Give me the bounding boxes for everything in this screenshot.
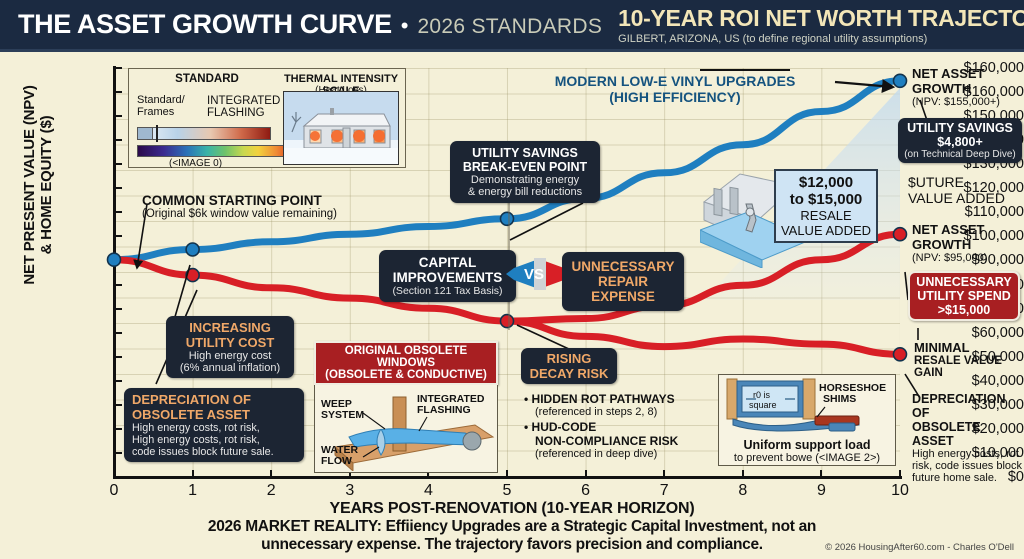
capital-l3: (Section 121 Tax Basis) [385,285,510,297]
support-l1: Uniform support load [719,438,895,452]
y-tick-mark [114,380,122,382]
breakeven-l2: BREAK-EVEN POINT [457,160,593,174]
svg-text:SHIMS: SHIMS [823,393,856,405]
svg-text:square: square [749,400,777,410]
callout-resale-value: $12,000 to $15,000 RESALE VALUE ADDED [774,169,878,243]
page-title: THE ASSET GROWTH CURVE [18,9,392,40]
x-tick-label: 10 [885,482,915,500]
y-tick-mark [114,476,122,478]
header-standards: 2026 STANDARDS [417,15,602,39]
legend-standard-right: INTEGRATED FLASHING [207,95,285,119]
resale-l2: to $15,000 [778,191,874,208]
breakeven-l4: & energy bill reductions [457,186,593,198]
list-decay-risks: • HIDDEN ROT PATHWAYS (referenced in ste… [524,392,714,460]
resale-l1: $12,000 [778,174,874,191]
x-tick-label: 3 [335,482,365,500]
dep-left-l3: High energy costs, rot risk, [132,422,296,434]
header-roi-subtitle: GILBERT, ARIZONA, US (to define regional… [618,33,1024,45]
house-thermal-image [283,91,399,165]
nam-l3: (NPV: $95,000) [912,252,1024,264]
mr-l1: MINIMAL [914,340,1024,355]
breakeven-l3: Demonstrating energy [457,174,593,186]
callout-net-asset-top: NET ASSET GROWTH (NPV: $155,000+) [912,66,1024,108]
decay-b2s: (referenced in deep dive) [535,448,714,460]
fv-l1: $UTURE [908,174,1024,190]
dep-left-l1: DEPRECIATION OF [132,392,296,407]
mr-l2: RESALE VALUE GAIN [914,355,1024,379]
decay-l1: RISING [527,351,611,366]
support-load-caption: Uniform support load to prevent bowe (<I… [719,438,895,464]
y-tick-mark [114,259,122,261]
common-start-sub: (Original $6k window value remaining) [142,208,374,220]
obsolete-windows-header: ORIGINAL OBSOLETE WINDOWS (OBSOLETE & CO… [314,341,498,385]
bullet-icon: • [524,392,528,406]
common-start-title: COMMON STARTING POINT [142,193,374,208]
x-tick-label: 2 [256,482,286,500]
decay-b2a: HUD-CODE [532,420,597,434]
y-tick-mark [114,91,122,93]
modern-lowe-line1: MODERN LOW-E VINYL UPGRADES [520,73,830,89]
modern-lowe-line2: (HIGH EFFICIENCY) [520,89,830,105]
x-tick-label: 6 [571,482,601,500]
decay-b2b: NON-COMPLIANCE RISK [535,434,714,448]
y-tick-mark [114,115,122,117]
incr-util-l2: UTILITY COST [172,335,288,350]
decay-bullet-1: • HIDDEN ROT PATHWAYS [524,392,714,406]
y-tick-mark [114,404,122,406]
x-tick-label: 7 [649,482,679,500]
y-tick-label: $110,000 [916,204,1024,220]
callout-rising-decay: RISING DECAY RISK [521,348,617,384]
x-tick-mark [742,470,744,479]
y-tick-mark [114,211,122,213]
legend-panel: STANDARD Standard/ Frames INTEGRATED FLA… [128,68,406,168]
dr-l1: DEPRECIATION OF [912,392,1024,420]
decay-b1s: (referenced in steps 2, 8) [535,406,714,418]
x-tick-mark [192,470,194,479]
dr-l2: OBSOLETE ASSET [912,420,1024,448]
callout-depreciation-right: DEPRECIATION OF OBSOLETE ASSET High ener… [912,392,1024,484]
svg-text:SYSTEM: SYSTEM [321,409,364,421]
dr-l3: High energy costs, rot [912,448,1024,460]
y-tick-mark [114,235,122,237]
x-tick-label: 1 [178,482,208,500]
y-tick-mark [114,139,122,141]
x-axis-title: YEARS POST-RENOVATION (10-YEAR HORIZON) [0,500,1024,518]
y-tick-mark [114,428,122,430]
footer-line-1: 2026 MARKET REALITY: Effiiency Upgrades … [0,518,1024,536]
nat-l1: NET ASSET [912,66,1024,81]
support-l2: to prevent bowe (<IMAGE 2>) [719,452,895,464]
x-tick-label: 4 [413,482,443,500]
uspend-l3: >$15,000 [913,303,1015,317]
callout-unnecessary-spend: UNNECESSARY UTILITY SPEND >$15,000 [908,271,1020,321]
dep-left-l5: code issues block future sale. [132,446,296,458]
header-roi-title: 10-YEAR ROI NET WORTH TRAJECTORY [618,5,1024,32]
svg-text:FLASHING: FLASHING [417,404,471,416]
y-tick-mark [114,356,122,358]
callout-common-starting-point: COMMON STARTING POINT (Original $6k wind… [142,193,374,220]
y-tick-label: $60,000 [916,325,1024,341]
y-tick-mark [114,67,122,69]
header-bar: THE ASSET GROWTH CURVE • 2026 STANDARDS … [0,0,1024,52]
callout-capital-improvements: CAPITAL IMPROVEMENTS (Section 121 Tax Ba… [379,250,516,302]
breakeven-l1: UTILITY SAVINGS [457,146,593,160]
x-tick-mark [820,470,822,479]
vs-label: VS [524,266,544,283]
uspend-l2: UTILITY SPEND [913,289,1015,303]
nat-l3: (NPV: $155,000+) [912,96,1024,108]
x-tick-label: 5 [492,482,522,500]
x-tick-mark [899,470,901,479]
svg-text:FLOW: FLOW [321,455,352,467]
us-l3: (on Technical Deep Dive) [902,149,1018,160]
incr-util-l1: INCREASING [172,320,288,335]
callout-unnecessary-repair: UNNECESSARY REPAIR EXPENSE [562,252,684,311]
panel-obsolete-windows: ORIGINAL OBSOLETE WINDOWS (OBSOLETE & CO… [314,341,498,473]
x-tick-label: 0 [99,482,129,500]
callout-breakeven: UTILITY SAVINGS BREAK-EVEN POINT Demonst… [450,141,600,203]
window-flashing-diagram: WEEP SYSTEM INTEGRATED FLASHING WATER FL… [314,385,498,473]
capital-l1: CAPITAL [385,255,510,270]
copyright-credit: © 2026 HousingAfter60.com - Charles O'De… [825,542,1014,553]
us-l1: UTILITY SAVINGS [902,121,1018,135]
header-right: 10-YEAR ROI NET WORTH TRAJECTORY GILBERT… [618,5,1024,45]
nam-l2: GROWTH [912,237,1024,252]
legend-image-ref: (<IMAGE 0) [169,158,222,169]
callout-modern-lowe: MODERN LOW-E VINYL UPGRADES (HIGH EFFICI… [520,73,830,105]
y-tick-mark [114,284,122,286]
nat-l2: GROWTH [912,81,1024,96]
header-left: THE ASSET GROWTH CURVE • 2026 STANDARDS [0,9,602,40]
callout-utility-savings: UTILITY SAVINGS $4,800+ (on Technical De… [898,118,1022,163]
fv-l2: VALUE ADDED [908,190,1024,206]
legend-standard-title: STANDARD [137,73,277,85]
decay-bullet-2: • HUD-CODE [524,420,714,434]
y-tick-mark [114,308,122,310]
us-l2: $4,800+ [902,135,1018,149]
obsolete-l1: ORIGINAL OBSOLETE WINDOWS [320,345,492,369]
x-tick-label: 9 [806,482,836,500]
repair-l2: REPAIR EXPENSE [568,274,678,304]
y-tick-mark [114,163,122,165]
decay-b1: HIDDEN ROT PATHWAYS [532,392,675,406]
thermal-marker-icon [156,125,158,142]
y-axis-title: NET PRESENT VALUE (NPV) & HOME EQUITY ($… [21,85,55,285]
uspend-l1: UNNECESSARY [913,275,1015,289]
callout-depreciation-left: DEPRECIATION OF OBSOLETE ASSET High ener… [124,388,304,462]
y-tick-mark [114,187,122,189]
dr-l5: future home sale. [912,472,1024,484]
dep-left-l4: High energy costs, rot risk, [132,434,296,446]
panel-support-load: r0 is square HORSESHOE SHIMS Uniform sup… [718,374,896,466]
incr-util-l4: (6% annual inflation) [172,362,288,374]
repair-l1: UNNECESSARY [568,259,678,274]
capital-l2: IMPROVEMENTS [385,270,510,285]
resale-l4: VALUE ADDED [778,223,874,238]
decay-l2: DECAY RISK [527,366,611,381]
nam-l1: NET ASSET [912,222,1024,237]
resale-l3: RESALE [778,208,874,223]
bullet-icon-2: • [524,420,528,434]
x-tick-mark [585,470,587,479]
dr-l4: risk, code issues block [912,460,1024,472]
y-tick-mark [114,332,122,334]
x-tick-mark [270,470,272,479]
thermal-swatch [137,127,153,140]
callout-increasing-utility-cost: INCREASING UTILITY COST High energy cost… [166,316,294,378]
x-tick-mark [506,470,508,479]
header-bullet-icon: • [401,13,409,39]
y-axis-line [113,66,116,478]
incr-util-l3: High energy cost [172,350,288,362]
obsolete-l2: (OBSOLETE & CONDUCTIVE) [320,369,492,381]
x-tick-label: 8 [728,482,758,500]
x-tick-mark [113,470,115,479]
callout-net-asset-mid: NET ASSET GROWTH (NPV: $95,000) [912,222,1024,264]
infographic-root: THE ASSET GROWTH CURVE • 2026 STANDARDS … [0,0,1024,559]
legend-standard-left: Standard/ Frames [137,95,207,118]
dep-left-l2: OBSOLETE ASSET [132,407,296,422]
y-tick-mark [114,452,122,454]
x-tick-mark [663,470,665,479]
callout-minimal-resale: MINIMAL RESALE VALUE GAIN [914,340,1024,379]
callout-future-value: $UTURE VALUE ADDED [908,174,1024,206]
